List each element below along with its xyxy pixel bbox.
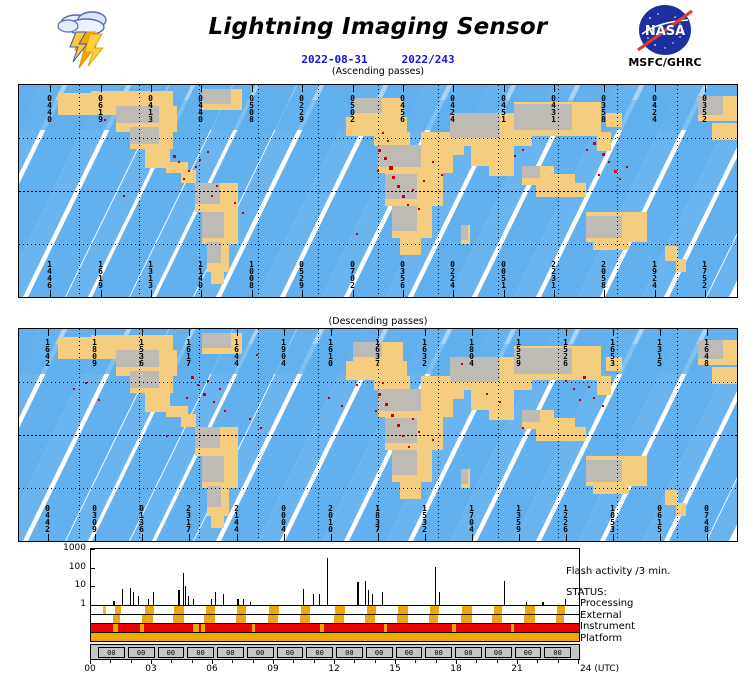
pass-tick-top [284, 329, 285, 336]
graticule-parallel [19, 138, 737, 139]
pass-tick-top [519, 329, 520, 336]
landmass [489, 161, 514, 176]
flash-bar [368, 590, 369, 605]
map-descending-passes[interactable]: 1642180915361617164419041610163716321804… [18, 328, 738, 542]
date-day-of-year: 2022/243 [402, 53, 455, 66]
y-axis-tick [91, 549, 95, 550]
pass-tick-bottom [353, 290, 354, 297]
y-axis-tick-label: 10 [56, 580, 86, 590]
lightning-flash-marker [391, 414, 394, 417]
pass-tick-top [331, 329, 332, 336]
hour-cell: 00 [425, 647, 452, 658]
land-terminator-shadow [392, 206, 417, 231]
hour-cell: 00 [485, 647, 512, 658]
equator-line [19, 435, 737, 436]
hour-axis-minor-tick [131, 660, 132, 663]
flash-bar [223, 594, 224, 605]
pass-tick-bottom [142, 534, 143, 541]
lightning-flash-marker [199, 159, 201, 161]
hour-cell: 00 [187, 647, 214, 658]
pass-tick-bottom [252, 290, 253, 297]
hour-axis-minor-tick [558, 660, 559, 663]
lightning-flash-marker [203, 393, 206, 396]
nasa-meatball-logo-icon: NASA [628, 4, 702, 56]
landmass [374, 132, 410, 147]
pass-tick-bottom [48, 534, 49, 541]
lightning-flash-marker [207, 151, 209, 153]
pass-time-label-top: 1644 [233, 338, 240, 366]
status-segment [494, 606, 503, 614]
land-terminator-shadow [392, 450, 417, 475]
flash-bar [504, 581, 505, 605]
lightning-flash-marker [602, 153, 605, 156]
status-segment [384, 624, 387, 632]
pass-time-label-top: 1637 [374, 338, 381, 366]
hour-axis-label: 21 [505, 664, 529, 674]
flash-bar [130, 588, 131, 605]
status-segment [461, 615, 472, 623]
lightning-flash-marker [387, 140, 389, 142]
pass-time-label-bottom: 1532 [421, 504, 428, 532]
pass-tick-bottom [660, 534, 661, 541]
hour-cell: 00 [98, 647, 125, 658]
status-segment [301, 606, 310, 614]
lightning-flash-marker [573, 388, 575, 390]
pass-tick-bottom [151, 290, 152, 297]
lightning-flash-marker [356, 384, 358, 386]
hour-cell: 00 [158, 647, 185, 658]
flash-activity-plot[interactable] [90, 548, 580, 606]
status-segment [492, 615, 502, 623]
pass-time-label-top: 1653 [609, 338, 616, 366]
status-segment [511, 624, 514, 632]
map-ascending-passes[interactable]: 0440061904130440050802290502045604240451… [18, 84, 738, 298]
pass-tick-top [189, 329, 190, 336]
pass-time-label-top: 0413 [147, 94, 154, 122]
pass-tick-bottom [378, 534, 379, 541]
pass-time-label-bottom: 1053 [609, 504, 616, 532]
status-segment [201, 624, 205, 632]
landmass [489, 405, 514, 420]
flash-bar [211, 599, 212, 605]
status-segment [397, 615, 408, 623]
pass-time-label-bottom: 0748 [703, 504, 710, 532]
pass-time-label-top: 0440 [46, 94, 53, 122]
status-segment [556, 615, 565, 623]
pass-time-label-top: 1617 [185, 338, 192, 366]
status-segment [320, 624, 324, 632]
flash-bar [185, 586, 186, 605]
hour-axis-label: 15 [383, 664, 407, 674]
pass-time-label-bottom: 1226 [562, 504, 569, 532]
hour-cell: 00 [306, 647, 333, 658]
lightning-flash-marker [98, 399, 100, 401]
lightning-flash-marker [441, 174, 443, 176]
lightning-flash-marker [514, 155, 516, 157]
pass-time-label-bottom: 1359 [515, 504, 522, 532]
lightning-flash-marker [499, 401, 501, 403]
status-row-platform [90, 633, 580, 642]
page-header: Lightning Imaging Sensor 2022-08-312022/… [0, 0, 756, 78]
hour-axis-label: 18 [444, 664, 468, 674]
lightning-flash-marker [186, 397, 188, 399]
pass-time-label-bottom: 0309 [91, 504, 98, 532]
pass-time-label-top: 0440 [197, 94, 204, 122]
pass-time-label-top: 1804 [468, 338, 475, 366]
lightning-flash-marker [418, 208, 420, 210]
land-terminator-shadow [202, 333, 231, 348]
equator-line [19, 191, 737, 192]
lightning-flash-marker [173, 155, 176, 158]
lightning-flash-marker [626, 166, 628, 168]
pass-tick-top [604, 85, 605, 92]
status-segment [335, 606, 345, 614]
lightning-flash-marker [602, 405, 604, 407]
land-terminator-shadow [385, 418, 417, 443]
hour-axis-band: 00000000000000000000000000000000 [90, 644, 580, 660]
pass-time-label-bottom: 0224 [449, 260, 456, 288]
lightning-flash-marker [328, 397, 330, 399]
flash-bar [382, 592, 383, 605]
legend-item-processing: Processing [566, 598, 756, 610]
legend-item-external: External [566, 610, 756, 622]
pass-tick-bottom [189, 534, 190, 541]
pass-tick-top [425, 329, 426, 336]
lightning-flash-marker [234, 202, 236, 204]
hour-axis-minor-tick [476, 660, 477, 663]
lightning-flash-marker [260, 427, 262, 429]
chart-legend: Flash activity /3 min. STATUS: Processin… [566, 566, 756, 644]
flash-bar [113, 601, 114, 605]
pass-time-label-bottom: 1752 [701, 260, 708, 288]
pass-tick-top [655, 85, 656, 92]
graticule-parallel [19, 244, 737, 245]
pass-tick-top [554, 85, 555, 92]
lightning-flash-marker [178, 161, 180, 163]
pass-tick-top [252, 85, 253, 92]
pass-tick-top [302, 85, 303, 92]
hour-axis-label: 03 [139, 664, 163, 674]
graticule-parallel [19, 382, 737, 383]
land-terminator-shadow [522, 410, 540, 423]
pass-time-label-bottom: 0051 [500, 260, 507, 288]
pass-tick-top [504, 85, 505, 92]
flash-bar [133, 592, 134, 605]
pass-time-label-top: 0229 [298, 94, 305, 122]
flash-bar [542, 602, 543, 605]
lightning-flash-marker [412, 418, 414, 420]
map-ascending-canvas: 0440061904130440050802290502045604240451… [19, 85, 737, 297]
hour-axis-minor-tick [293, 660, 294, 663]
pass-tick-bottom [504, 290, 505, 297]
status-segment [174, 606, 184, 614]
pass-time-label-bottom: 1140 [197, 260, 204, 288]
lightning-flash-marker [249, 418, 251, 420]
pass-tick-top [472, 329, 473, 336]
status-segment [113, 624, 118, 632]
hour-axis-label: 09 [261, 664, 285, 674]
graticule-parallel [19, 488, 737, 489]
hour-axis-tick [578, 660, 579, 664]
land-terminator-shadow [202, 456, 224, 481]
land-terminator-shadow [207, 486, 221, 507]
y-axis-tick-label: 1 [56, 599, 86, 609]
hour-axis-minor-tick [192, 660, 193, 663]
subtitle-descending: (Descending passes) [0, 316, 756, 327]
hour-cell: 00 [544, 647, 571, 658]
lightning-flash-marker [522, 427, 524, 429]
lightning-flash-marker [85, 382, 87, 384]
utc-axis-label: 24 (UTC) [580, 664, 619, 674]
lightning-flash-marker [242, 212, 244, 214]
pass-tick-top [48, 329, 49, 336]
pass-time-label-bottom: 2231 [550, 260, 557, 288]
hour-cell: 00 [366, 647, 393, 658]
y-axis-tick [91, 586, 95, 587]
lightning-flash-marker [486, 393, 488, 395]
pass-time-label-top: 1904 [280, 338, 287, 366]
flash-bar [237, 599, 238, 605]
status-segment [334, 615, 345, 623]
lightning-flash-marker [166, 435, 168, 437]
hour-cell: 00 [336, 647, 363, 658]
hour-axis-label: 00 [78, 664, 102, 674]
land-terminator-shadow [130, 127, 159, 144]
hour-cell: 00 [277, 647, 304, 658]
flash-bar [188, 596, 189, 605]
flash-bar [372, 594, 373, 605]
lightning-flash-marker [588, 386, 590, 388]
land-terminator-shadow [378, 389, 421, 410]
status-segment [237, 606, 246, 614]
pass-tick-bottom [50, 290, 51, 297]
lightning-flash-marker [586, 149, 588, 151]
pass-time-label-bottom: 2058 [600, 260, 607, 288]
y-axis-tick-label: 1000 [56, 543, 86, 553]
hour-cell: 00 [396, 647, 423, 658]
pass-time-label-top: 0352 [701, 94, 708, 122]
hour-axis-minor-tick [436, 660, 437, 663]
hour-axis-minor-tick [253, 660, 254, 663]
land-terminator-shadow [450, 113, 500, 138]
pass-time-label-top: 1559 [515, 338, 522, 366]
pass-time-label-bottom: 1924 [651, 260, 658, 288]
hour-cell: 00 [515, 647, 542, 658]
pass-tick-top [613, 329, 614, 336]
pass-tick-bottom [403, 290, 404, 297]
flash-bar [526, 602, 527, 605]
lightning-flash-marker [583, 376, 586, 379]
pass-tick-bottom [705, 290, 706, 297]
status-segment [429, 615, 439, 623]
pass-time-label-top: 0424 [449, 94, 456, 122]
pass-tick-top [353, 85, 354, 92]
nasa-center-label: MSFC/GHRC [598, 56, 732, 69]
flash-bar [243, 599, 244, 605]
pass-time-label-top: 1536 [138, 338, 145, 366]
pass-tick-bottom [331, 534, 332, 541]
pass-tick-top [237, 329, 238, 336]
landmass [597, 132, 611, 151]
pass-time-label-top: 1526 [562, 338, 569, 366]
pass-time-label-top: 0431 [550, 94, 557, 122]
pass-time-label-bottom: 0356 [399, 260, 406, 288]
pass-time-label-bottom: 0004 [280, 504, 287, 532]
hour-cell: 00 [217, 647, 244, 658]
pass-time-label-top: 1632 [421, 338, 428, 366]
pass-time-label-top: 0424 [651, 94, 658, 122]
lightning-flash-marker [356, 233, 358, 235]
lightning-flash-marker [378, 393, 381, 396]
flash-bar [138, 596, 139, 605]
pass-time-label-top: 1648 [703, 338, 710, 366]
pass-time-label-bottom: 1008 [248, 260, 255, 288]
lightning-flash-marker [412, 189, 414, 191]
land-terminator-shadow [207, 242, 221, 263]
lightning-flash-marker [183, 178, 185, 180]
legend-status-header: STATUS: [566, 587, 756, 599]
pass-time-label-bottom: 0615 [656, 504, 663, 532]
flash-bar [215, 592, 216, 605]
hour-axis-minor-tick [314, 660, 315, 663]
pass-tick-top [142, 329, 143, 336]
lightning-flash-marker [402, 435, 404, 437]
pass-time-label-top: 0358 [600, 94, 607, 122]
pass-tick-bottom [655, 290, 656, 297]
hour-cell: 00 [247, 647, 274, 658]
lightning-flash-marker [213, 401, 215, 403]
status-segment [557, 606, 565, 614]
lightning-flash-marker [211, 195, 213, 197]
lightning-flash-marker [123, 195, 125, 197]
flash-bar [303, 589, 304, 605]
hour-axis-minor-tick [110, 660, 111, 663]
pass-time-label-bottom: 2317 [185, 504, 192, 532]
pass-tick-top [707, 329, 708, 336]
lightning-flash-marker [219, 388, 221, 390]
pass-time-label-top: 1315 [656, 338, 663, 366]
y-axis-tick [91, 568, 95, 569]
lightning-flash-marker [207, 380, 209, 382]
status-row-instrument [90, 624, 580, 633]
pass-time-label-top: 0508 [248, 94, 255, 122]
pass-tick-bottom [472, 534, 473, 541]
flash-bar [319, 594, 320, 605]
pass-tick-bottom [707, 534, 708, 541]
lightning-flash-marker [461, 363, 463, 365]
status-segment [525, 606, 535, 614]
pass-time-label-bottom: 2010 [327, 504, 334, 532]
pass-tick-top [201, 85, 202, 92]
lightning-flash-marker [378, 149, 381, 152]
pass-tick-bottom [95, 534, 96, 541]
lightning-flash-marker [382, 132, 384, 134]
land-terminator-shadow [522, 166, 540, 179]
pass-time-label-bottom: 0702 [349, 260, 356, 288]
pass-time-label-bottom: 0529 [298, 260, 305, 288]
hour-axis-label: 12 [322, 664, 346, 674]
lightning-flash-marker [73, 388, 75, 390]
status-segment [269, 606, 279, 614]
pass-time-label-top: 1610 [327, 338, 334, 366]
land-terminator-shadow [378, 145, 421, 166]
status-segment [193, 624, 199, 632]
lightning-flash-marker [382, 382, 384, 384]
lightning-flash-marker [392, 176, 395, 179]
pass-tick-bottom [604, 290, 605, 297]
pass-tick-top [453, 85, 454, 92]
pass-tick-top [50, 85, 51, 92]
pass-tick-bottom [613, 534, 614, 541]
flash-bar [327, 558, 328, 605]
hour-axis-minor-tick [537, 660, 538, 663]
hour-cell: 00 [455, 647, 482, 658]
status-segment [236, 615, 246, 623]
lightning-flash-marker [619, 178, 621, 180]
pass-tick-top [403, 85, 404, 92]
flash-bar [435, 567, 436, 605]
lightning-flash-marker [407, 204, 409, 206]
lightning-flash-marker [418, 431, 420, 433]
lightning-flash-marker [375, 410, 377, 412]
legend-item-instrument: Instrument [566, 621, 756, 633]
lightning-flash-marker [256, 354, 258, 356]
pass-tick-top [378, 329, 379, 336]
svg-text:NASA: NASA [645, 24, 685, 39]
pass-time-label-top: 1642 [44, 338, 51, 366]
lightning-flash-marker [593, 397, 595, 399]
pass-tick-top [101, 85, 102, 92]
hour-axis-label: 06 [200, 664, 224, 674]
lightning-flash-marker [384, 157, 387, 160]
landmass [400, 236, 422, 255]
land-terminator-shadow [461, 469, 468, 484]
hour-axis-minor-tick [375, 660, 376, 663]
lightning-flash-marker [408, 446, 410, 448]
lightning-flash-marker [341, 405, 343, 407]
land-terminator-shadow [461, 225, 468, 240]
lightning-flash-marker [188, 170, 190, 172]
status-segment [524, 615, 535, 623]
lightning-flash-marker [579, 399, 581, 401]
status-segment [113, 615, 120, 623]
pass-tick-bottom [566, 534, 567, 541]
date-iso: 2022-08-31 [301, 53, 367, 66]
pass-time-label-bottom: 2144 [233, 504, 240, 532]
legend-item-platform: Platform [566, 633, 756, 645]
status-row-processing [90, 606, 580, 615]
lightning-flash-marker [450, 113, 452, 115]
land-terminator-shadow [130, 371, 159, 388]
landmass [374, 376, 410, 391]
lightning-flash-marker [104, 119, 106, 121]
status-segment [462, 606, 472, 614]
status-segment [268, 615, 279, 623]
flash-bar [439, 592, 440, 605]
landmass [211, 511, 224, 528]
pass-tick-bottom [284, 534, 285, 541]
status-segment [145, 606, 155, 614]
pass-time-label-top: 0502 [349, 94, 356, 122]
landmass [597, 376, 611, 395]
status-segment [173, 615, 184, 623]
lightning-flash-marker [608, 161, 610, 163]
pass-tick-top [660, 329, 661, 336]
pass-time-label-bottom: 1704 [468, 504, 475, 532]
lightning-flash-marker [224, 410, 226, 412]
flash-bar [148, 599, 149, 605]
legend-flash-activity: Flash activity /3 min. [566, 566, 756, 578]
